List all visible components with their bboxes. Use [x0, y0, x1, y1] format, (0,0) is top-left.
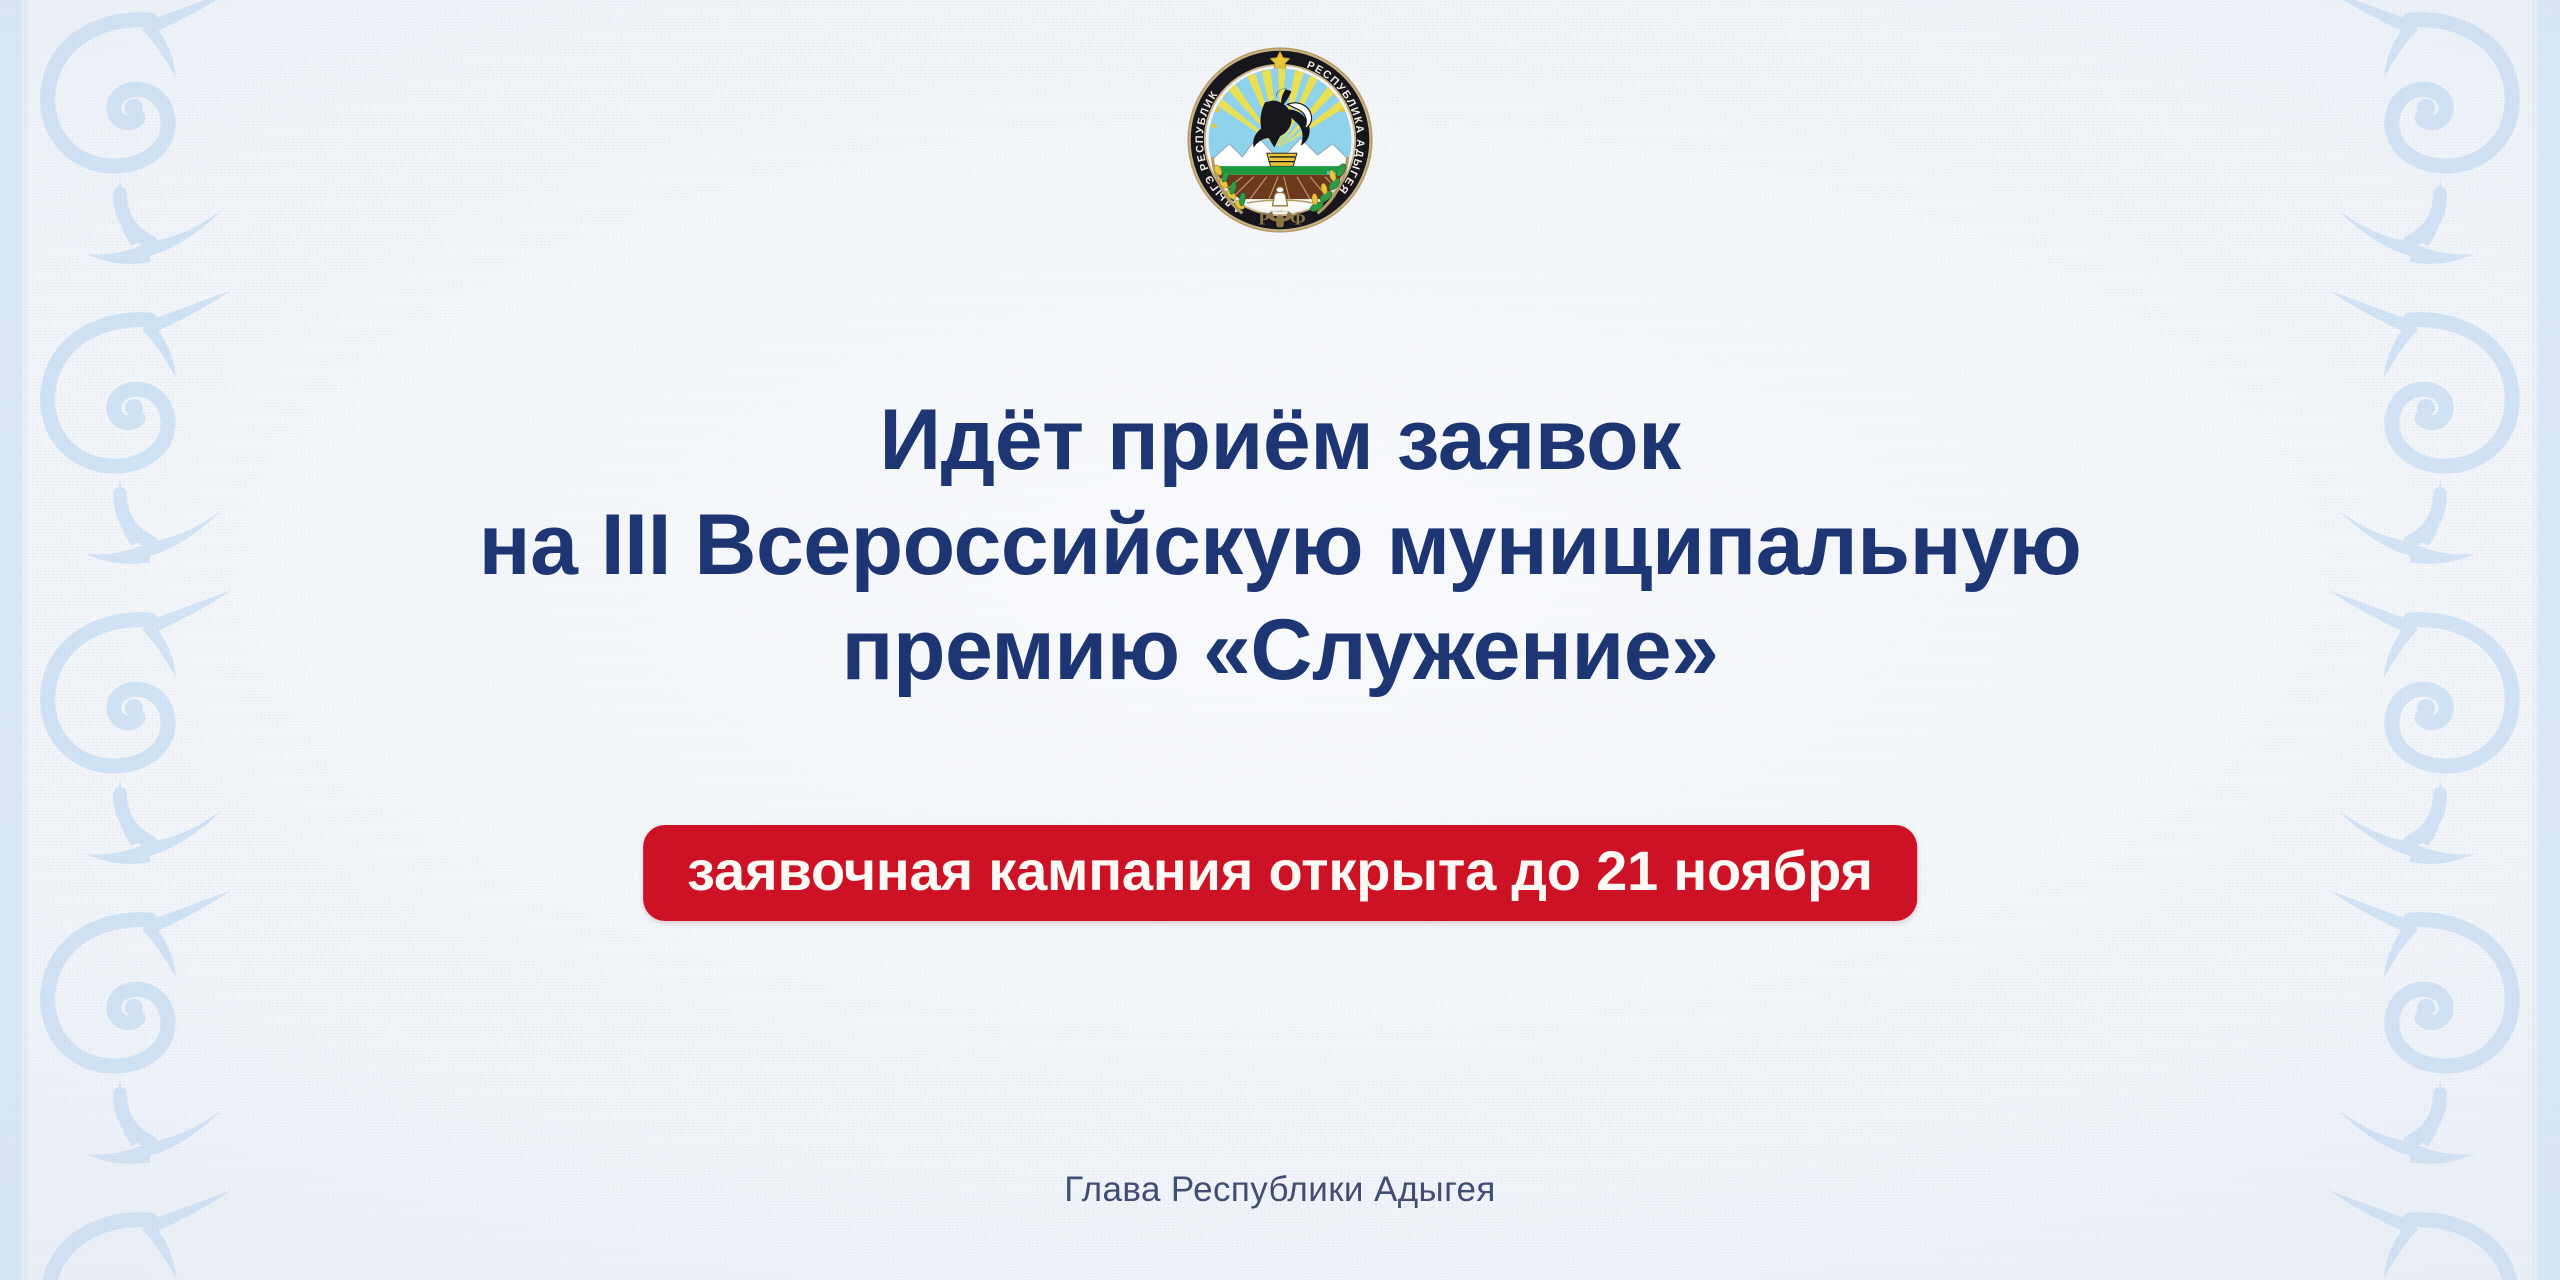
footer-attribution: Глава Республики Адыгея: [1064, 1170, 1495, 1210]
deadline-banner-text: заявочная кампания открыта до 21 ноября: [687, 843, 1873, 899]
deadline-banner: заявочная кампания открыта до 21 ноября: [643, 825, 1917, 921]
poster-canvas: АДЫГЭ РЕСПУБЛИК РЕСПУБЛИКА АДЫГЕЯ: [0, 0, 2560, 1280]
svg-text:Ф: Ф: [1290, 209, 1305, 229]
headline-line-2: на III Всероссийскую муниципальную: [120, 493, 2440, 598]
headline-line-1: Идёт приём заявок: [120, 388, 2440, 493]
coat-of-arms-emblem: АДЫГЭ РЕСПУБЛИК РЕСПУБЛИКА АДЫГЕЯ: [1186, 46, 1374, 234]
headline: Идёт приём заявок на III Всероссийскую м…: [0, 388, 2560, 703]
svg-text:Р: Р: [1259, 209, 1270, 229]
footer: Глава Республики Адыгея: [0, 1170, 2560, 1210]
headline-line-3: премию «Служение»: [120, 598, 2440, 703]
